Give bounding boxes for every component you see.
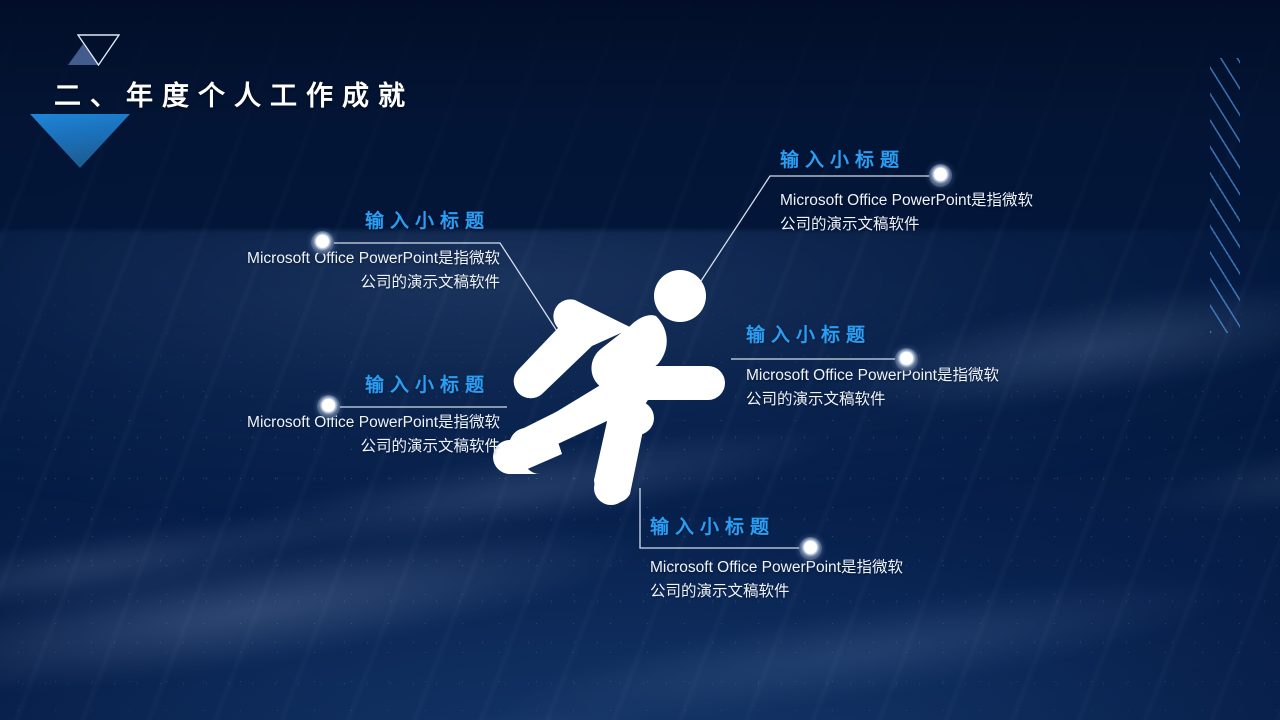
callout-title: 输入小标题 xyxy=(650,512,950,539)
callout-title: 输入小标题 xyxy=(780,145,1080,172)
running-person-icon xyxy=(480,258,750,508)
callout-body: Microsoft Office PowerPoint是指微软 公司的演示文稿软… xyxy=(650,556,950,603)
callout-body: Microsoft Office PowerPoint是指微软 公司的演示文稿软… xyxy=(746,364,1046,411)
callout-body-line: Microsoft Office PowerPoint是指微软 xyxy=(746,364,1046,388)
node-marker-bottom xyxy=(799,537,822,560)
node-marker-left-lower xyxy=(317,395,340,418)
callout-body-line: Microsoft Office PowerPoint是指微软 xyxy=(650,556,950,580)
callout-bottom: 输入小标题 Microsoft Office PowerPoint是指微软 公司… xyxy=(650,512,950,603)
node-marker-right-middle xyxy=(895,348,918,371)
callout-left-upper: 输入小标题 Microsoft Office PowerPoint是指微软 公司… xyxy=(200,206,500,294)
callout-body-line: Microsoft Office PowerPoint是指微软 xyxy=(200,411,500,435)
callout-title: 输入小标题 xyxy=(746,320,1046,347)
callout-body-line: 公司的演示文稿软件 xyxy=(650,580,950,604)
callout-body: Microsoft Office PowerPoint是指微软 公司的演示文稿软… xyxy=(200,247,500,294)
callout-body-line: Microsoft Office PowerPoint是指微软 xyxy=(200,247,500,271)
callout-title: 输入小标题 xyxy=(200,206,490,233)
node-marker-left-upper xyxy=(311,231,334,254)
callout-title: 输入小标题 xyxy=(200,370,490,397)
node-marker-right-top xyxy=(929,164,952,187)
callout-body-line: 公司的演示文稿软件 xyxy=(746,388,1046,412)
callout-body-line: Microsoft Office PowerPoint是指微软 xyxy=(780,189,1080,213)
callout-body-line: 公司的演示文稿软件 xyxy=(780,213,1080,237)
slide-canvas: 二、年度个人工作成就 xyxy=(0,0,1280,720)
callout-right-top: 输入小标题 Microsoft Office PowerPoint是指微软 公司… xyxy=(780,145,1080,236)
callout-body-line: 公司的演示文稿软件 xyxy=(200,435,500,459)
callout-body: Microsoft Office PowerPoint是指微软 公司的演示文稿软… xyxy=(200,411,500,458)
callout-left-lower: 输入小标题 Microsoft Office PowerPoint是指微软 公司… xyxy=(200,370,500,458)
callout-body-line: 公司的演示文稿软件 xyxy=(200,271,500,295)
callout-body: Microsoft Office PowerPoint是指微软 公司的演示文稿软… xyxy=(780,189,1080,236)
